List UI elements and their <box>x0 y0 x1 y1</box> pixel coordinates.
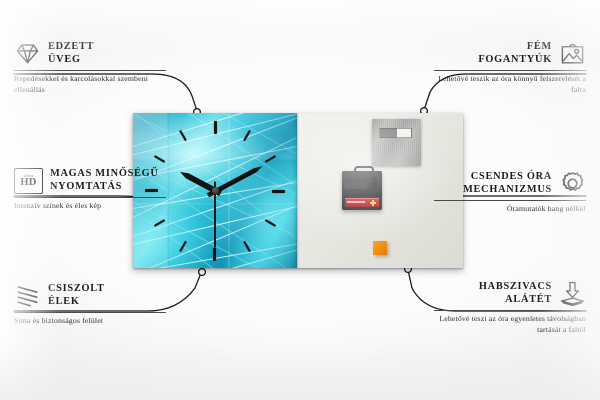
callout-rule <box>14 312 166 313</box>
callout-rule <box>14 70 166 71</box>
ultra-hd-icon: ultraHD <box>14 168 43 194</box>
callout-subtitle: Lehetővé teszi az óra egyenletes távolsá… <box>434 314 586 335</box>
callout-title-line2: ÉLEK <box>48 296 105 309</box>
battery <box>345 198 379 207</box>
callout-rule <box>434 310 586 311</box>
callout-subtitle: Sima és biztonságos felület <box>14 316 166 327</box>
callout-rule <box>434 70 586 71</box>
callout-title-line2: ALÁTÉT <box>434 294 552 307</box>
callout-silent-mechanism[interactable]: CSENDES ÓRA MECHANIZMUS Óramutatók hang … <box>434 170 586 215</box>
polished-edges-icon <box>14 282 41 309</box>
foam-pad <box>373 241 387 255</box>
callout-tempered-glass[interactable]: EDZETT ÜVEG Repedésekkel és karcolásokka… <box>14 40 166 95</box>
callout-title-line2: NYOMTATÁS <box>50 181 159 194</box>
callout-title: MAGAS MINŐSÉGŰ <box>50 168 159 181</box>
metal-hanger-plate <box>372 119 421 166</box>
callout-subtitle: Óramutatók hang nélkül <box>434 204 586 215</box>
clock-center-cap <box>212 187 219 194</box>
callout-title: FÉM <box>434 41 552 54</box>
callout-foam-pad[interactable]: HABSZIVACS ALÁTÉT Lehetővé teszi az óra … <box>434 280 586 335</box>
callout-title: CSENDES ÓRA <box>434 171 552 184</box>
callout-title-line2: MECHANIZMUS <box>434 184 552 197</box>
callout-metal-handles[interactable]: FÉM FOGANTYÚK Lehetővé teszik az óra kön… <box>434 40 586 95</box>
callout-polished-edges[interactable]: CSISZOLT ÉLEK Sima és biztonságos felüle… <box>14 282 166 327</box>
callout-title-line2: ÜVEG <box>48 54 94 67</box>
product-image <box>133 113 463 268</box>
callout-high-quality-print[interactable]: ultraHD MAGAS MINŐSÉGŰ NYOMTATÁS Intenzí… <box>14 168 166 212</box>
diamond-icon <box>14 40 41 67</box>
callout-rule <box>434 200 586 201</box>
callout-subtitle: Intenzív színek és éles kép <box>14 201 166 212</box>
callout-title: CSISZOLT <box>48 283 105 296</box>
callout-title-line2: FOGANTYÚK <box>434 54 552 67</box>
foam-layers-arrow-icon <box>559 280 586 307</box>
infographic-canvas: EDZETT ÜVEG Repedésekkel és karcolásokka… <box>0 0 600 400</box>
callout-title: EDZETT <box>48 41 94 54</box>
callout-title: HABSZIVACS <box>434 281 552 294</box>
gear-icon <box>559 170 586 197</box>
callout-subtitle: Lehetővé teszik az óra könnyű felszerelé… <box>434 74 586 95</box>
callout-subtitle: Repedésekkel és karcolásokkal szembeni e… <box>14 74 166 95</box>
clock-movement-mechanism <box>342 171 382 210</box>
picture-hanger-icon <box>559 40 586 67</box>
callout-rule <box>14 197 166 198</box>
